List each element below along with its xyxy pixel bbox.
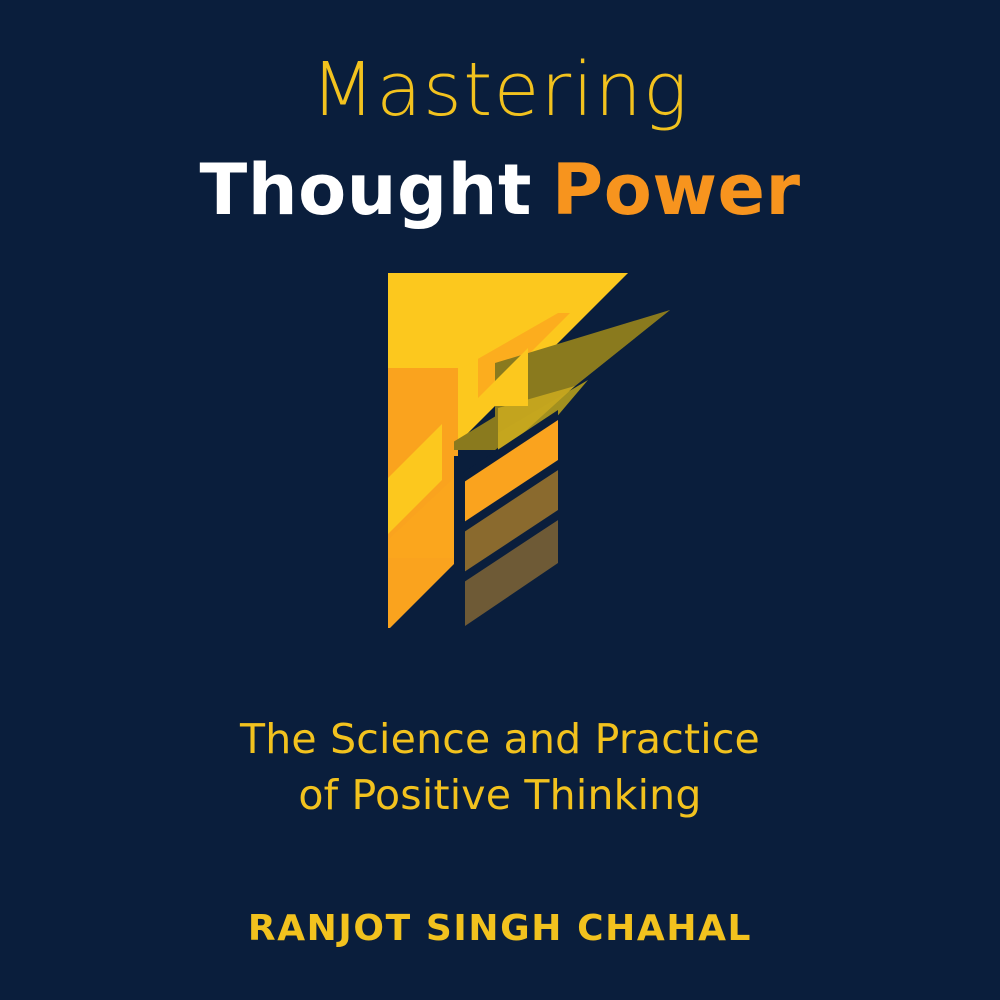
title-word-power: Power <box>552 149 801 231</box>
abstract-triangular-emblem-icon <box>370 258 680 633</box>
cover-subtitle: The Science and Practice of Positive Thi… <box>0 712 1000 824</box>
subtitle-line-1: The Science and Practice <box>0 712 1000 768</box>
logo-graphic <box>370 258 680 633</box>
author-name: RANJOT SINGH CHAHAL <box>0 908 1000 949</box>
book-cover: Mastering ThoughtPower <box>0 0 1000 1000</box>
title-line-mastering: Mastering <box>0 52 1000 130</box>
cover-title: Mastering ThoughtPower <box>0 52 1000 227</box>
logo-vertical-spine <box>454 456 462 628</box>
title-line-thought-power: ThoughtPower <box>0 154 1000 228</box>
subtitle-line-2: of Positive Thinking <box>0 768 1000 824</box>
title-word-thought: Thought <box>200 149 532 231</box>
